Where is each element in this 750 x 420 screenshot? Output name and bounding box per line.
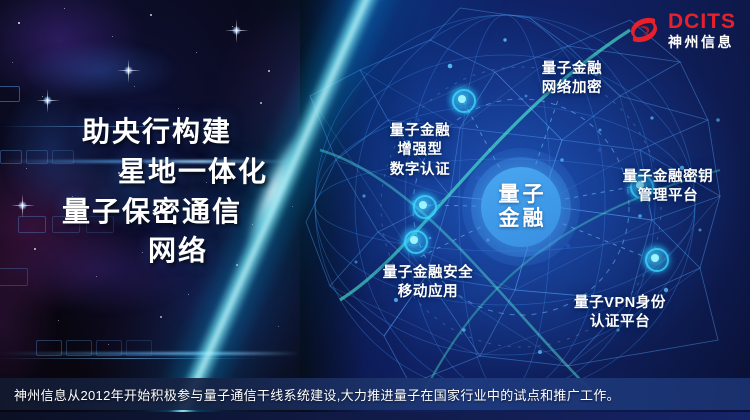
label-line-2: 移动应用 [362,283,494,302]
caption-area: 神州信息从2012年开始积极参与量子通信干线系统建设,大力推进量子在国家行业中的… [0,374,750,420]
label-line-1: 量子金融安全 [362,264,494,283]
label-line-1: 量子金融密钥 [597,168,739,187]
headline-line-4: 网络 [0,231,320,271]
node-dot [419,201,427,209]
headline-line-2: 星地一体化 [0,152,320,192]
node-label-network-encryption[interactable]: 量子金融 网络加密 [512,60,632,99]
node-dot [410,236,418,244]
label-line-2: 认证平台 [552,313,688,332]
brand-name-en: DCITS [668,11,736,32]
node-marker-vpn-identity-platform[interactable] [642,245,668,271]
headline-line-1: 助央行构建 [0,112,320,152]
hud-rect [0,86,20,102]
slide-canvas: 量子 金融 量子金融 网络加密 量子金融 增强型 数字认证 量子 [0,0,750,420]
headline: 助央行构建 星地一体化 量子保密通信 网络 [0,112,320,271]
node-dot [458,95,466,103]
label-line-3: 数字认证 [360,161,480,180]
node-label-vpn-identity-platform[interactable]: 量子VPN身份 认证平台 [552,294,688,333]
node-marker-network-encryption[interactable] [449,86,475,112]
brand-logo[interactable]: DCITS 神州信息 [627,11,736,49]
hub-label-line1: 量子 [496,183,547,207]
label-line-2: 管理平台 [597,187,739,206]
label-line-1: 量子金融 [360,122,480,141]
node-marker-secure-mobile-application[interactable] [401,227,427,253]
dcits-swirl-icon [627,13,661,47]
label-line-1: 量子金融 [512,60,632,79]
node-marker-enhanced-digital-certification[interactable] [410,192,436,218]
node-dot [651,254,659,262]
star-flare [47,100,49,102]
hub-label-line2: 金融 [496,207,547,231]
caption-bar: 神州信息从2012年开始积极参与量子通信干线系统建设,大力推进量子在国家行业中的… [0,378,750,410]
hub-label: 量子 金融 [481,167,561,247]
node-label-key-management-platform[interactable]: 量子金融密钥 管理平台 [597,168,739,207]
brand-wordmark: DCITS 神州信息 [668,11,736,49]
label-line-2: 网络加密 [512,79,632,98]
bottom-edge-strip [0,412,750,420]
star-flare [128,70,130,72]
headline-line-3: 量子保密通信 [0,192,320,232]
label-line-1: 量子VPN身份 [552,294,688,313]
node-label-enhanced-digital-certification[interactable]: 量子金融 增强型 数字认证 [360,122,480,180]
star-flare [236,30,238,32]
label-line-2: 增强型 [360,141,480,160]
node-label-secure-mobile-application[interactable]: 量子金融安全 移动应用 [362,264,494,303]
brand-name-cn: 神州信息 [668,35,736,49]
caption-text: 神州信息从2012年开始积极参与量子通信干线系统建设,大力推进量子在国家行业中的… [0,385,620,404]
